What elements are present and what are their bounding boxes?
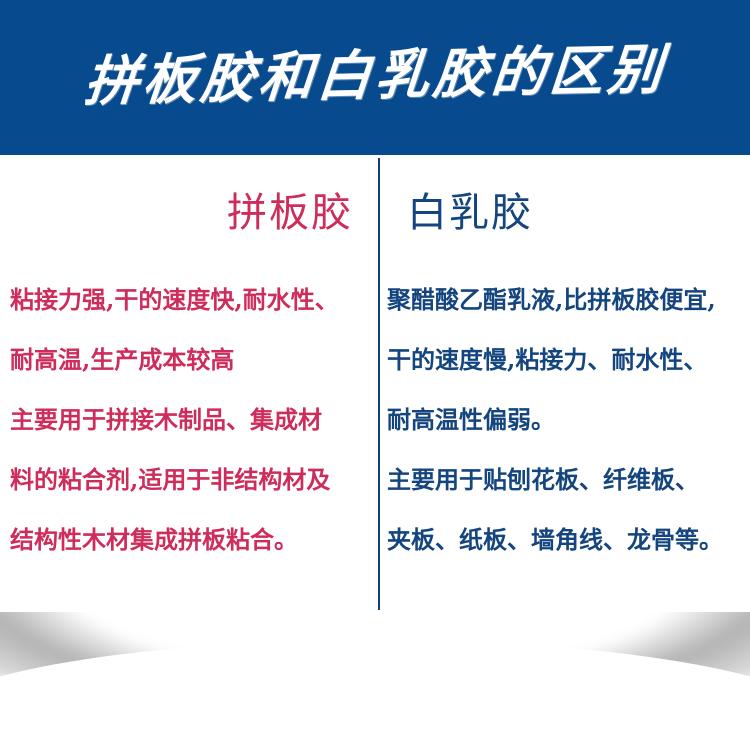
left-line-1: 粘接力强,干的速度快,耐水性、	[10, 270, 371, 330]
left-line-3: 主要用于拼接木制品、集成材	[10, 390, 371, 450]
right-column-lines: 聚醋酸乙酯乳液,比拼板胶便宜, 干的速度慢,粘接力、耐水性、 耐高温性偏弱。 主…	[387, 270, 744, 570]
comparison-columns: 拼板胶 粘接力强,干的速度快,耐水性、 耐高温,生产成本较高 主要用于拼接木制品…	[0, 155, 750, 612]
column-left-jointing-glue: 拼板胶 粘接力强,干的速度快,耐水性、 耐高温,生产成本较高 主要用于拼接木制品…	[0, 155, 379, 612]
right-line-5: 夹板、纸板、墙角线、龙骨等。	[387, 510, 744, 570]
right-line-3: 耐高温性偏弱。	[387, 390, 744, 450]
left-line-4: 料的粘合剂,适用于非结构材及	[10, 450, 371, 510]
column-divider	[378, 158, 380, 610]
right-line-1: 聚醋酸乙酯乳液,比拼板胶便宜,	[387, 270, 744, 330]
left-column-lines: 粘接力强,干的速度快,耐水性、 耐高温,生产成本较高 主要用于拼接木制品、集成材…	[10, 270, 371, 570]
right-line-4: 主要用于贴刨花板、纤维板、	[387, 450, 744, 510]
left-column-heading: 拼板胶	[10, 155, 371, 233]
product-comparison-graphic: 拼板胶和白乳胶的区别 拼板胶 粘接力强,干的速度快,耐水性、 耐高温,生产成本较…	[0, 0, 750, 738]
right-line-2: 干的速度慢,粘接力、耐水性、	[387, 330, 744, 390]
banner-title-text: 拼板胶和白乳胶的区别	[82, 41, 668, 113]
column-right-white-latex-glue: 白乳胶 聚醋酸乙酯乳液,比拼板胶便宜, 干的速度慢,粘接力、耐水性、 耐高温性偏…	[379, 155, 750, 612]
bottom-white-fill	[0, 700, 750, 738]
left-line-2: 耐高温,生产成本较高	[10, 330, 371, 390]
title-banner: 拼板胶和白乳胶的区别	[0, 0, 750, 155]
content-card: 拼板胶和白乳胶的区别 拼板胶 粘接力强,干的速度快,耐水性、 耐高温,生产成本较…	[0, 0, 750, 612]
left-line-5: 结构性木材集成拼板粘合。	[10, 510, 371, 570]
right-column-heading: 白乳胶	[387, 155, 744, 233]
